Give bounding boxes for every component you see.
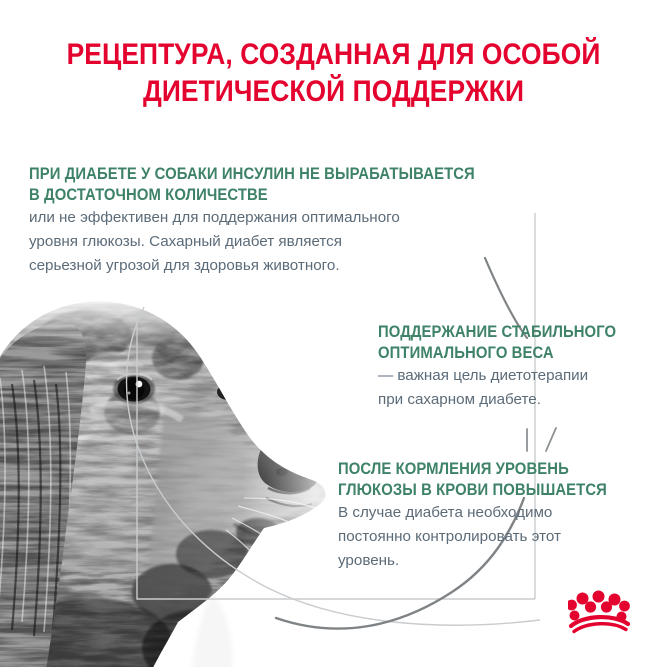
- glucose-body-line-3: уровень.: [338, 549, 637, 573]
- glucose-heading-line-2: ГЛЮКОЗЫ В КРОВИ ПОВЫШАЕТСЯ: [338, 480, 607, 501]
- glucose-heading-line-1: ПОСЛЕ КОРМЛЕНИЯ УРОВЕНЬ: [338, 459, 607, 480]
- insulin-body-line-2: уровня глюкозы. Сахарный диабет является: [29, 230, 524, 254]
- text-block-glucose: ПОСЛЕ КОРМЛЕНИЯ УРОВЕНЬ ГЛЮКОЗЫ В КРОВИ …: [338, 459, 637, 573]
- page-title: РЕЦЕПТУРА, СОЗДАННАЯ ДЛЯ ОСОБОЙ ДИЕТИЧЕС…: [40, 36, 627, 110]
- insulin-body-line-3: серьезной угрозой для здоровья животного…: [29, 254, 524, 278]
- text-block-weight: ПОДДЕРЖАНИЕ СТАБИЛЬНОГО ОПТИМАЛЬНОГО ВЕС…: [378, 322, 643, 412]
- dog-portrait-image: [0, 292, 344, 667]
- insulin-body-line-1: или не эффективен для поддержания оптима…: [29, 206, 524, 230]
- royal-canin-logo: [568, 588, 632, 636]
- weight-body-line-2: при сахарном диабете.: [378, 388, 643, 412]
- glucose-body-line-2: постоянно контролировать этот: [338, 525, 637, 549]
- glucose-body-line-1: В случае диабета необходимо: [338, 501, 637, 525]
- insulin-heading-line-1: ПРИ ДИАБЕТЕ У СОБАКИ ИНСУЛИН НЕ ВЫРАБАТЫ…: [29, 164, 475, 185]
- crown-icon: [568, 588, 632, 636]
- infographic-page: РЕЦЕПТУРА, СОЗДАННАЯ ДЛЯ ОСОБОЙ ДИЕТИЧЕС…: [0, 0, 667, 667]
- insulin-heading-line-2: В ДОСТАТОЧНОМ КОЛИЧЕСТВЕ: [29, 185, 475, 206]
- page-title-line-2: ДИЕТИЧЕСКОЙ ПОДДЕРЖКИ: [40, 73, 627, 110]
- weight-body-line-1: — важная цель диетотерапии: [378, 364, 643, 388]
- page-title-line-1: РЕЦЕПТУРА, СОЗДАННАЯ ДЛЯ ОСОБОЙ: [40, 36, 627, 73]
- weight-heading-line-2: ОПТИМАЛЬНОГО ВЕСА: [378, 343, 616, 364]
- weight-heading-line-1: ПОДДЕРЖАНИЕ СТАБИЛЬНОГО: [378, 322, 616, 343]
- text-block-insulin: ПРИ ДИАБЕТЕ У СОБАКИ ИНСУЛИН НЕ ВЫРАБАТЫ…: [29, 164, 524, 278]
- tick-marks: [527, 428, 556, 451]
